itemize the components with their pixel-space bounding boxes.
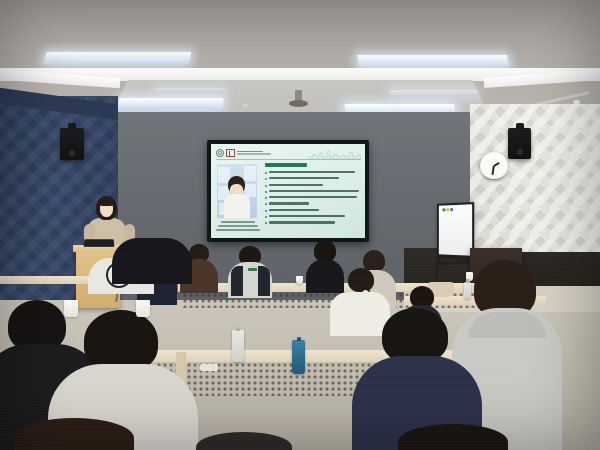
clock-minute-hand [492,166,495,175]
slide-content [211,144,365,238]
attendee-hair [84,310,158,372]
led-panel-light [155,88,226,92]
speaker-right [508,128,531,159]
slide-photo-caption [215,221,261,233]
slide-bullet [265,190,361,193]
desk-paper [200,364,218,371]
slide-bullet [265,196,361,199]
school-emblem-logo [226,149,235,157]
steel-thermos [232,330,244,362]
led-panel-light [117,98,224,109]
slide-bullet [265,184,361,187]
led-panel-light [389,90,478,96]
presenter-laptop [84,239,115,247]
slide-bullet [265,202,361,205]
paper-cup [136,300,150,317]
attendee-vest-shadow [258,266,270,296]
speaker-grille-icon [517,149,523,155]
paper-cup [296,276,303,284]
whiteboard-magnets [443,208,453,211]
slide-bullet [265,215,361,218]
slide-bullet [265,171,361,174]
slide-title-block [265,163,307,167]
projector-mount-plate [289,100,308,107]
slide-bullet [265,209,361,212]
projection-screen [207,140,369,242]
attendee-vest-shadow [231,266,243,296]
attendee-grey-vest [228,246,272,298]
led-panel-light [357,55,509,67]
slide-bullet-list [265,171,361,228]
slide-header-text [237,151,271,155]
led-panel-light [44,52,192,64]
attendee-green-tag [248,268,257,271]
attendee-head-foreground [14,418,134,450]
ceiling-sensor-icon [243,104,248,107]
paper-cup [64,300,78,317]
city-skyline-outline-icon [309,150,361,159]
lecture-room-photo [0,0,600,450]
speaker-left [60,128,84,160]
blue-water-bottle [292,340,305,374]
slide-bullet [265,177,361,180]
wall-clock [480,152,508,180]
presenter-fringe [98,198,115,206]
portrait-body [224,194,250,218]
attendee-dark-shoulder [112,238,192,284]
slide-divider [216,159,361,160]
slide-bullet [265,221,361,224]
whiteboard [437,202,474,258]
university-seal-logo [216,149,224,157]
portrait-hair [228,176,245,193]
speaker-portrait-photo [217,164,257,218]
speaker-grille-icon [69,150,75,156]
